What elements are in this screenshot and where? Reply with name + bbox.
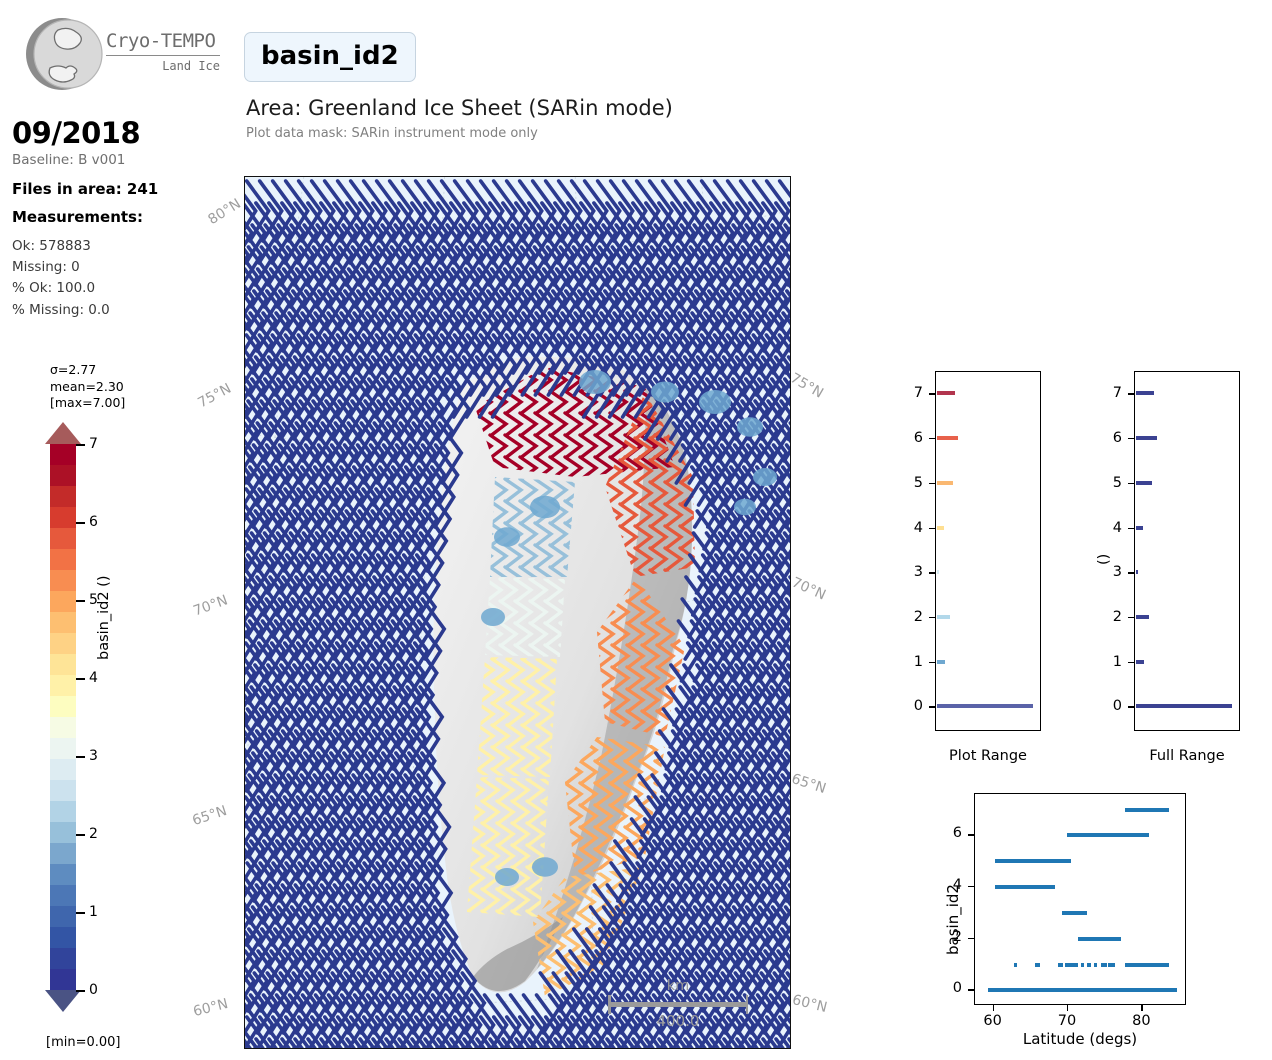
colorbar-stats: σ=2.77 mean=2.30 [max=7.00] [50, 362, 125, 412]
measurements-heading: Measurements: [12, 208, 143, 226]
range-bar [1136, 615, 1149, 619]
colorbar-sigma: σ=2.77 [50, 362, 125, 379]
map-panel[interactable]: km 400.0 [244, 176, 791, 1049]
axis-tick-label: 2 [889, 609, 923, 625]
colorbar-axis-label: basin_id2 () [96, 576, 112, 661]
colorbar-min-label: [min=0.00] [46, 1035, 121, 1050]
parameter-chip[interactable]: basin_id2 [244, 32, 416, 82]
full-range-axes [1134, 371, 1240, 731]
scatter-segment [1094, 963, 1097, 967]
colorbar-tick-label: 7 [89, 436, 98, 452]
range-bar [937, 436, 958, 440]
axis-tick-label: 4 [889, 520, 923, 536]
lat-label-right-60N: 60°N [791, 992, 829, 1016]
cryo-tempo-logo: Cryo-TEMPO Land Ice [14, 8, 229, 98]
scatter-segment [1101, 963, 1104, 967]
scalebar-unit: km [608, 978, 748, 994]
scatter-segment [995, 885, 1055, 889]
axis-tick [968, 938, 974, 939]
axis-tick [968, 989, 974, 990]
axis-tick-label: 4 [1088, 520, 1122, 536]
axis-tick-label: 7 [1088, 385, 1122, 401]
axis-tick [993, 1005, 994, 1011]
axis-tick-label: 6 [889, 430, 923, 446]
axis-tick [929, 706, 935, 707]
axis-tick [929, 617, 935, 618]
axis-tick [968, 886, 974, 887]
colorbar-tick-label: 3 [89, 748, 98, 764]
range-bar [1136, 481, 1152, 485]
colorbar-tick-label: 1 [89, 904, 98, 920]
logo-subtitle: Land Ice [106, 59, 220, 73]
range-bar [937, 570, 939, 574]
axis-tick [968, 834, 974, 835]
colorbar-tick [76, 990, 85, 992]
scatter-segment [988, 988, 1176, 992]
axis-tick [1128, 528, 1134, 529]
full-range-xlabel: Full Range [1112, 748, 1262, 764]
scatter-ylabel: basin_id2 [944, 884, 962, 955]
map-canvas[interactable]: km 400.0 [245, 177, 790, 1048]
lat-label-right-70N: 70°N [789, 575, 828, 604]
axis-tick [929, 393, 935, 394]
range-bar [937, 660, 945, 664]
logo-title: Cryo-TEMPO [106, 32, 226, 51]
axis-tick [929, 528, 935, 529]
colorbar-tick [76, 444, 85, 446]
colorbar-tick [76, 600, 85, 602]
map-scalebar: km 400.0 [608, 1002, 748, 1007]
scatter-segment [1067, 833, 1149, 837]
scatter-segment [1078, 937, 1121, 941]
range-bar [937, 391, 955, 395]
range-bar [1136, 704, 1232, 708]
files-in-area-label: Files in area: 241 [12, 180, 158, 198]
colorbar-max: [max=7.00] [50, 395, 125, 412]
axis-tick [1128, 438, 1134, 439]
range-bar [937, 615, 950, 619]
axis-tick-label: 6 [930, 825, 962, 841]
stat-ok: Ok: 578883 [12, 236, 110, 257]
lat-label-left-60N: 60°N [192, 996, 230, 1020]
plot-range-chart[interactable] [935, 371, 1041, 731]
colorbar-tick-label: 6 [89, 514, 98, 530]
range-bar [937, 526, 944, 530]
range-bar [937, 704, 1033, 708]
plot-range-xlabel: Plot Range [913, 748, 1063, 764]
range-bar [1136, 391, 1154, 395]
scatter-xlabel: Latitude (degs) [974, 1030, 1186, 1048]
axis-tick [929, 662, 935, 663]
scatter-segment [1065, 963, 1078, 967]
axis-tick-label: 2 [1088, 609, 1122, 625]
axis-tick [1128, 706, 1134, 707]
axis-tick [1128, 483, 1134, 484]
scatter-segment [1087, 963, 1091, 967]
colorbar-tick [76, 678, 85, 680]
lat-label-left-75N: 75°N [195, 381, 234, 412]
measurement-stats-list: Ok: 578883 Missing: 0 % Ok: 100.0 % Miss… [12, 236, 110, 321]
axis-tick [1128, 572, 1134, 573]
scatter-segment [1014, 963, 1017, 967]
lat-label-right-75N: 75°N [787, 370, 826, 402]
full-range-ylabel: () [1096, 554, 1112, 565]
scalebar-line [608, 1002, 748, 1007]
stat-pct-missing: % Missing: 0.0 [12, 300, 110, 321]
colorbar-tick-label: 2 [89, 826, 98, 842]
axis-tick-label: 7 [889, 385, 923, 401]
range-bar [1136, 570, 1138, 574]
stat-missing: Missing: 0 [12, 257, 110, 278]
scatter-segment [1125, 808, 1169, 812]
mask-subtitle: Plot data mask: SARin instrument mode on… [246, 126, 538, 141]
stat-pct-ok: % Ok: 100.0 [12, 278, 110, 299]
colorbar-tick [76, 834, 85, 836]
axis-tick [929, 438, 935, 439]
axis-tick-label: 3 [889, 564, 923, 580]
axis-tick [1128, 393, 1134, 394]
range-bar [1136, 660, 1144, 664]
scatter-segment [1125, 963, 1170, 967]
lat-label-left-65N: 65°N [190, 803, 229, 829]
logo-divider [106, 55, 220, 56]
baseline-label: Baseline: B v001 [12, 152, 125, 168]
lat-label-right-65N: 65°N [789, 771, 828, 797]
axis-tick [929, 572, 935, 573]
axis-tick-label: 6 [1088, 430, 1122, 446]
colorbar-tick-label: 4 [89, 670, 98, 686]
scatter-segment [1081, 963, 1084, 967]
axis-tick-label: 0 [889, 698, 923, 714]
scatter-segment [1104, 963, 1107, 967]
axis-tick-label: 1 [889, 654, 923, 670]
axis-tick [929, 483, 935, 484]
axis-tick-label: 60 [973, 1013, 1013, 1029]
colorbar-tick [76, 756, 85, 758]
scalebar-value: 400.0 [608, 1012, 748, 1030]
axis-tick-label: 3 [1088, 564, 1122, 580]
axis-tick [1128, 617, 1134, 618]
range-bar [1136, 436, 1157, 440]
scatter-segment [1108, 963, 1115, 967]
colorbar-ticks: 01234567 [45, 422, 115, 1022]
axis-tick-label: 5 [889, 475, 923, 491]
page-title: Area: Greenland Ice Sheet (SARin mode) [246, 96, 673, 120]
range-bar [1136, 526, 1143, 530]
axis-tick-label: 1 [1088, 654, 1122, 670]
globe-greenland-icon [22, 12, 106, 96]
scatter-segment [1035, 963, 1041, 967]
colorbar-mean: mean=2.30 [50, 379, 125, 396]
full-range-chart[interactable] [1134, 371, 1240, 731]
colorbar-tick [76, 522, 85, 524]
scatter-segment [995, 859, 1071, 863]
axis-tick-label: 80 [1121, 1013, 1161, 1029]
axis-tick [1128, 662, 1134, 663]
plot-range-axes [935, 371, 1041, 731]
colorbar-tick [76, 912, 85, 914]
range-bar [937, 481, 953, 485]
axis-tick-label: 5 [1088, 475, 1122, 491]
lat-label-left-80N: 80°N [205, 196, 243, 228]
axis-tick [1141, 1005, 1142, 1011]
scatter-segment [1062, 911, 1087, 915]
basin-vs-latitude-chart[interactable] [974, 793, 1186, 1005]
lat-label-left-70N: 70°N [191, 592, 230, 619]
scatter-segment [1058, 963, 1062, 967]
axis-tick [1067, 1005, 1068, 1011]
date-label: 09/2018 [12, 116, 140, 150]
axis-tick-label: 70 [1047, 1013, 1087, 1029]
axis-tick-label: 0 [1088, 698, 1122, 714]
axis-tick-label: 0 [930, 980, 962, 996]
colorbar-tick-label: 0 [89, 982, 98, 998]
map-graticule-and-tracks [245, 177, 790, 1048]
